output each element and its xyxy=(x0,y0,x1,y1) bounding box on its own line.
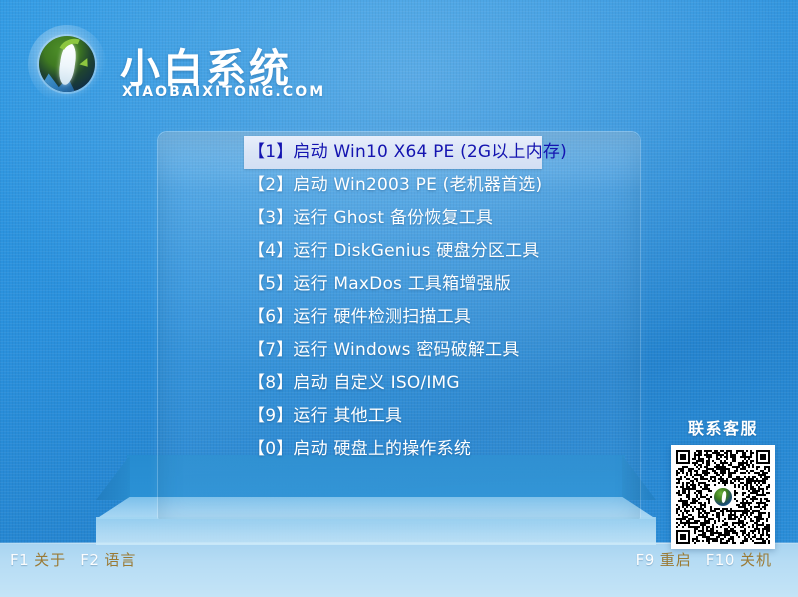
contact-support-block: 联系客服 xyxy=(668,415,778,549)
function-key-name: F10 xyxy=(706,551,735,569)
boot-menu-item-key: 【1】 xyxy=(248,142,293,162)
boot-menu-item-label: 启动 Win2003 PE (老机器首选) xyxy=(293,175,542,195)
function-key-name: F9 xyxy=(636,551,655,569)
function-key-label: 关机 xyxy=(740,551,772,569)
boot-menu-item-label: 启动 Win10 X64 PE (2G以上内存) xyxy=(293,142,567,162)
boot-menu-item-label: 运行 硬件检测扫描工具 xyxy=(293,307,471,327)
function-key-name: F2 xyxy=(80,551,99,569)
function-key-bar-right: F9重启F10关机 xyxy=(636,549,786,570)
boot-menu-item-1[interactable]: 【1】启动 Win10 X64 PE (2G以上内存) xyxy=(244,136,542,169)
boot-menu-item-2[interactable]: 【2】启动 Win2003 PE (老机器首选) xyxy=(244,169,554,202)
function-key-label: 语言 xyxy=(104,551,136,569)
boot-menu-item-6[interactable]: 【6】运行 硬件检测扫描工具 xyxy=(244,301,554,334)
qr-center-logo-disc-icon xyxy=(714,488,732,506)
function-key-bar-left: F1关于F2语言 xyxy=(10,549,150,570)
function-key-name: F1 xyxy=(10,551,29,569)
boot-menu-item-key: 【3】 xyxy=(248,208,293,228)
boot-menu-item-key: 【2】 xyxy=(248,175,293,195)
qr-center-logo-icon xyxy=(712,486,734,508)
boot-menu-item-label: 运行 其他工具 xyxy=(293,406,402,426)
boot-menu-item-label: 运行 MaxDos 工具箱增强版 xyxy=(293,274,511,294)
function-key-f9[interactable]: F9重启 xyxy=(636,549,706,570)
boot-menu-item-key: 【7】 xyxy=(248,340,293,360)
brand-logo: 小白系统 XIAOBAIXITONG.COM xyxy=(28,22,298,108)
contact-support-label: 联系客服 xyxy=(668,415,778,439)
boot-menu-item-10[interactable]: 【0】启动 硬盘上的操作系统 xyxy=(244,433,554,466)
boot-menu-item-label: 启动 自定义 ISO/IMG xyxy=(293,373,459,393)
boot-menu-item-8[interactable]: 【8】启动 自定义 ISO/IMG xyxy=(244,367,554,400)
function-key-label: 关于 xyxy=(34,551,66,569)
boot-menu-item-4[interactable]: 【4】运行 DiskGenius 硬盘分区工具 xyxy=(244,235,554,268)
boot-menu-item-key: 【4】 xyxy=(248,241,293,261)
boot-menu-list[interactable]: 【1】启动 Win10 X64 PE (2G以上内存)【2】启动 Win2003… xyxy=(244,136,554,466)
boot-menu-item-key: 【0】 xyxy=(248,439,293,459)
qr-code-icon[interactable] xyxy=(671,445,775,549)
boot-menu-item-3[interactable]: 【3】运行 Ghost 备份恢复工具 xyxy=(244,202,554,235)
boot-menu-item-key: 【8】 xyxy=(248,373,293,393)
boot-menu-item-7[interactable]: 【7】运行 Windows 密码破解工具 xyxy=(244,334,554,367)
boot-menu-item-key: 【9】 xyxy=(248,406,293,426)
brand-subtitle: XIAOBAIXITONG.COM xyxy=(122,84,325,100)
function-key-f10[interactable]: F10关机 xyxy=(706,549,786,570)
boot-menu-item-label: 运行 Windows 密码破解工具 xyxy=(293,340,519,360)
boot-menu-item-label: 启动 硬盘上的操作系统 xyxy=(293,439,471,459)
boot-menu-item-5[interactable]: 【5】运行 MaxDos 工具箱增强版 xyxy=(244,268,554,301)
boot-menu-item-key: 【6】 xyxy=(248,307,293,327)
recycle-disc-logo-icon xyxy=(28,25,106,103)
boot-menu-item-label: 运行 DiskGenius 硬盘分区工具 xyxy=(293,241,539,261)
boot-menu-item-label: 运行 Ghost 备份恢复工具 xyxy=(293,208,493,228)
boot-menu-item-key: 【5】 xyxy=(248,274,293,294)
function-key-f1[interactable]: F1关于 xyxy=(10,549,80,570)
function-key-f2[interactable]: F2语言 xyxy=(80,549,150,570)
boot-menu-item-9[interactable]: 【9】运行 其他工具 xyxy=(244,400,554,433)
function-key-label: 重启 xyxy=(660,551,692,569)
pedestal-front xyxy=(96,517,656,545)
